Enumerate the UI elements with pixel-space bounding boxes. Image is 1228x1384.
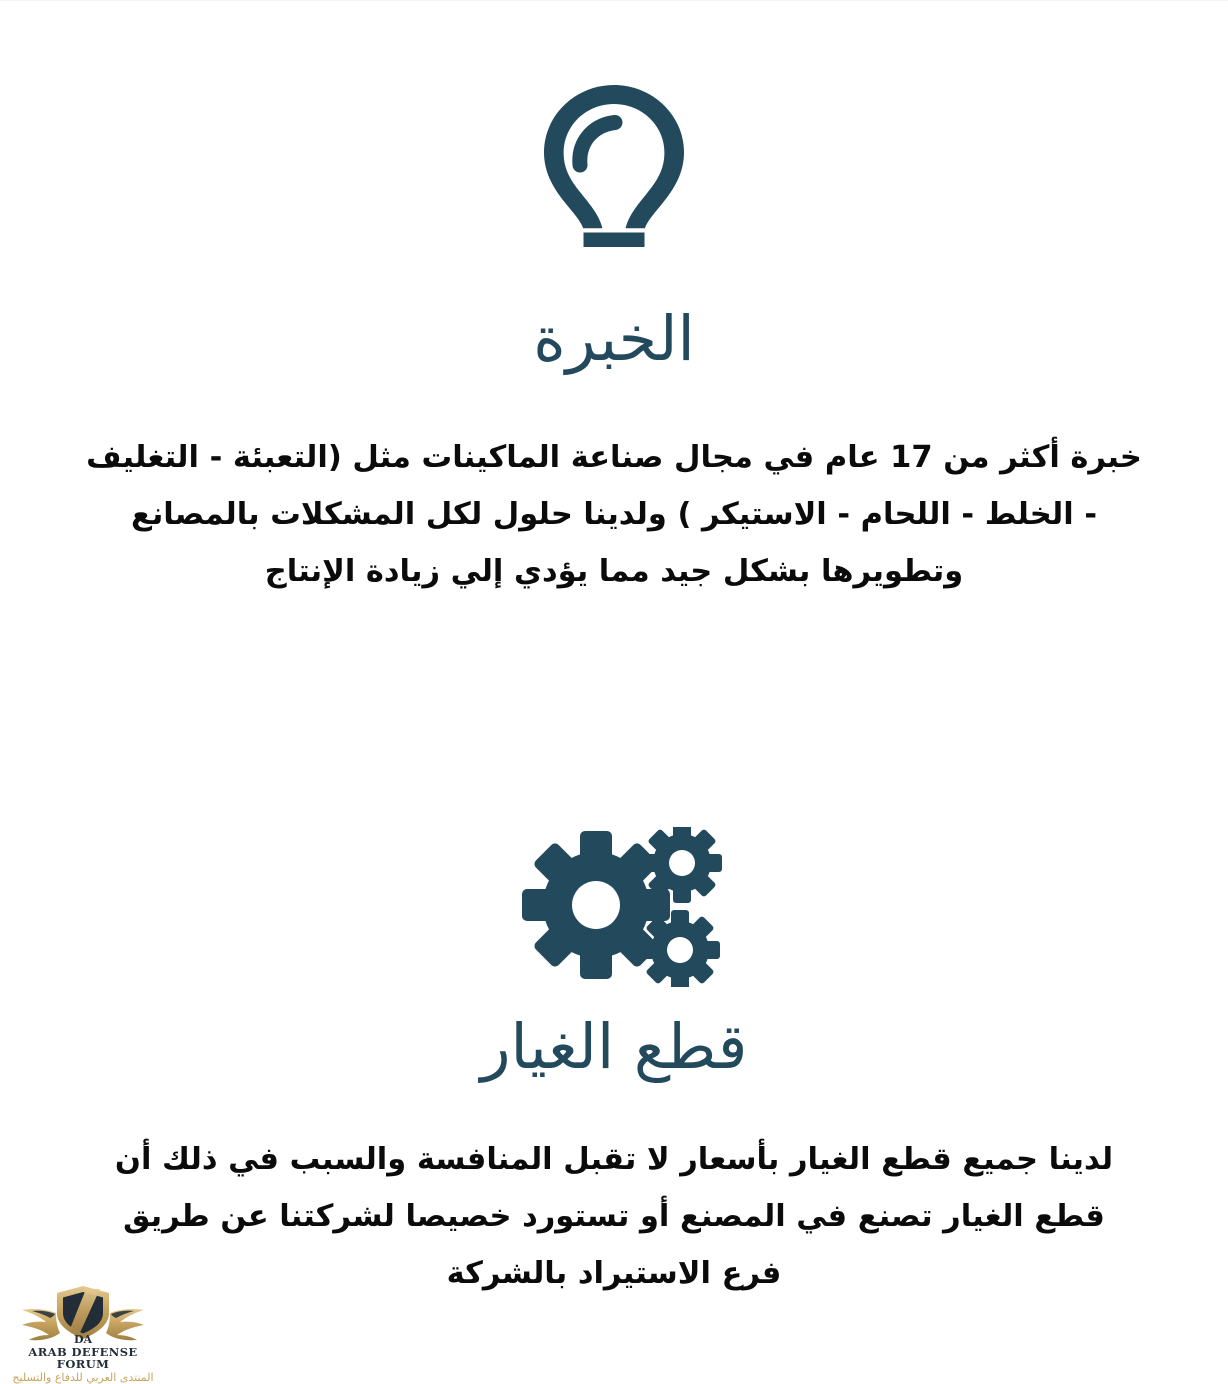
- section-title-expertise: الخبرة: [0, 305, 1228, 373]
- page-root: الخبرة خبرة أكثر من 17 عام في مجال صناعة…: [0, 0, 1228, 1383]
- logo-monogram: DA: [74, 1333, 93, 1346]
- lightbulb-icon: [543, 85, 685, 251]
- section-spare-parts: قطع الغيار لدينا جميع قطع الغيار بأسعار …: [0, 761, 1228, 1302]
- expertise-icon-wrap: [0, 1, 1228, 251]
- section-title-spare-parts: قطع الغيار: [0, 1013, 1228, 1081]
- spare-parts-icon-wrap: [0, 761, 1228, 991]
- gears-icon: [504, 827, 724, 991]
- watermark-name-en: ARAB DEFENSE FORUM: [8, 1347, 158, 1370]
- section-expertise: الخبرة خبرة أكثر من 17 عام في مجال صناعة…: [0, 1, 1228, 600]
- section-body-spare-parts: لدينا جميع قطع الغيار بأسعار لا تقبل الم…: [89, 1131, 1139, 1302]
- watermark-name-ar: المنتدى العربي للدفاع والتسليح: [8, 1372, 158, 1384]
- section-body-expertise: خبرة أكثر من 17 عام في مجال صناعة الماكي…: [84, 429, 1144, 600]
